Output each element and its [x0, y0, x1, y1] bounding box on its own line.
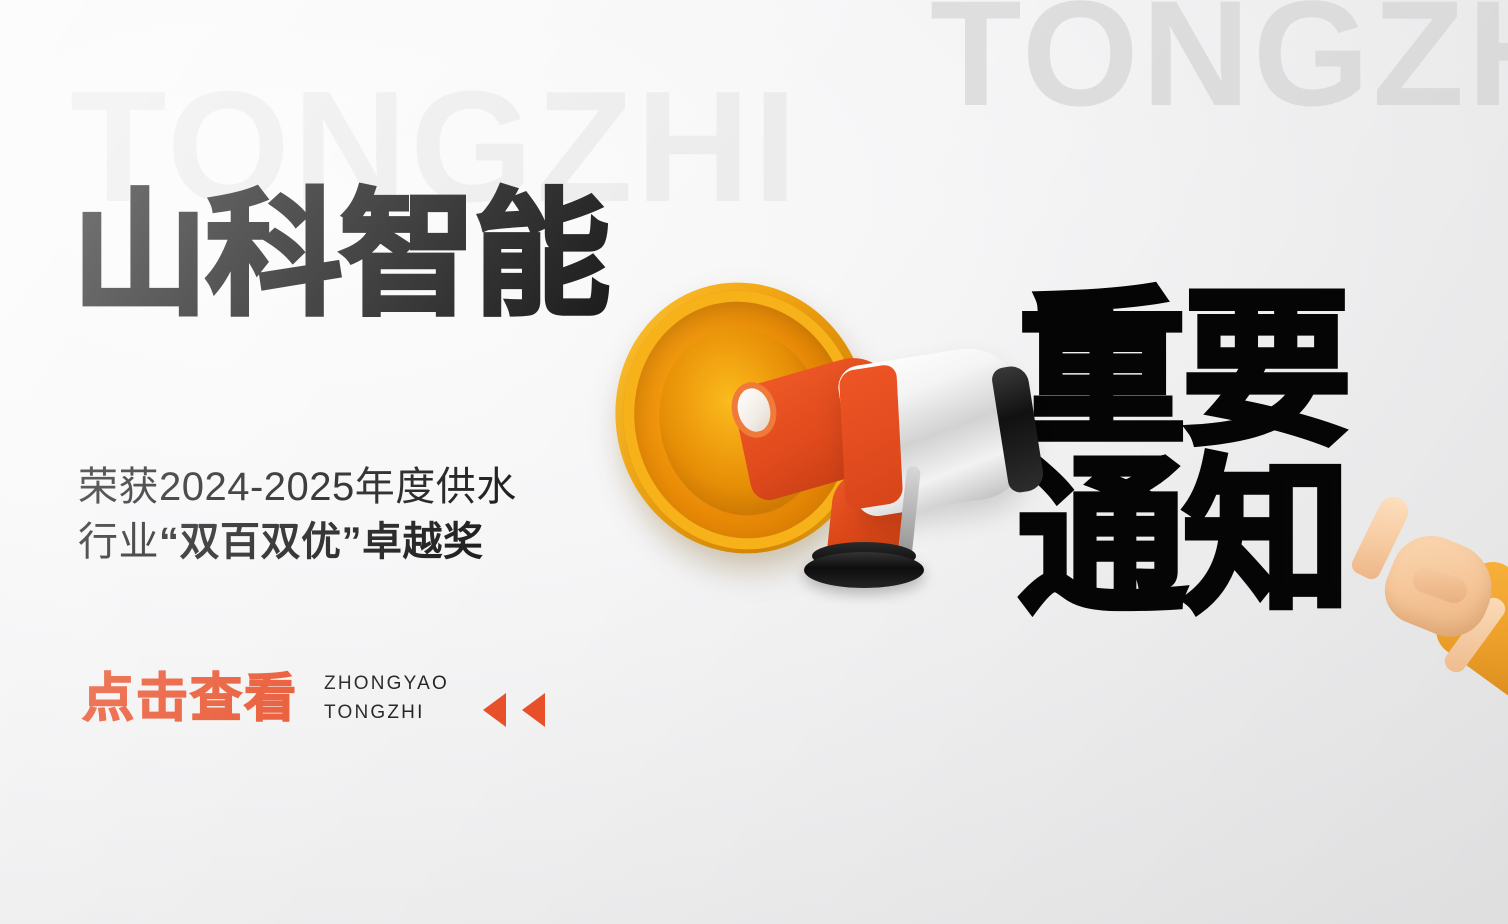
award-subtitle-line-1: 荣获2024-2025年度供水 — [78, 462, 598, 513]
cta-label[interactable]: 点击查看 — [82, 673, 298, 725]
megaphone-icon — [614, 276, 1014, 606]
award-subtitle: 荣获2024-2025年度供水 行业“双百双优”卓越奖 — [78, 462, 598, 568]
right-content-block: 重要 通知 — [968, 0, 1508, 924]
award-subtitle-suffix: 卓越奖 — [362, 520, 484, 564]
cta-pinyin: ZHONGYAO TONGZHI — [324, 670, 449, 727]
megaphone-body-red-band — [839, 363, 904, 511]
cta-pinyin-line-1: ZHONGYAO — [324, 670, 449, 699]
brand-title: 山科智能 — [72, 188, 608, 324]
notice-heading-line-2: 通知 — [1018, 460, 1348, 616]
promo-banner: TONGZHI TONGZHI 山科智能 荣获2024-2025年度供水 行业“… — [0, 0, 1508, 924]
cta-pinyin-line-2: TONGZHI — [324, 699, 449, 728]
megaphone-base — [804, 552, 924, 588]
notice-heading-line-1: 重要 — [1018, 292, 1348, 448]
award-subtitle-prefix: 行业 — [78, 520, 159, 564]
pointing-hand-icon — [1352, 488, 1508, 698]
award-emphasis: 双百双优 — [180, 520, 342, 564]
cta-arrow-group[interactable] — [483, 693, 545, 727]
award-quote-close: ” — [342, 520, 363, 564]
notice-heading: 重要 通知 — [1018, 292, 1348, 616]
triangle-left-icon[interactable] — [483, 693, 506, 727]
award-quote-open: “ — [159, 520, 180, 564]
award-subtitle-line-2: 行业“双百双优”卓越奖 — [78, 517, 598, 568]
triangle-left-icon[interactable] — [522, 693, 545, 727]
cta-row[interactable]: 点击查看 ZHONGYAO TONGZHI — [82, 670, 545, 727]
